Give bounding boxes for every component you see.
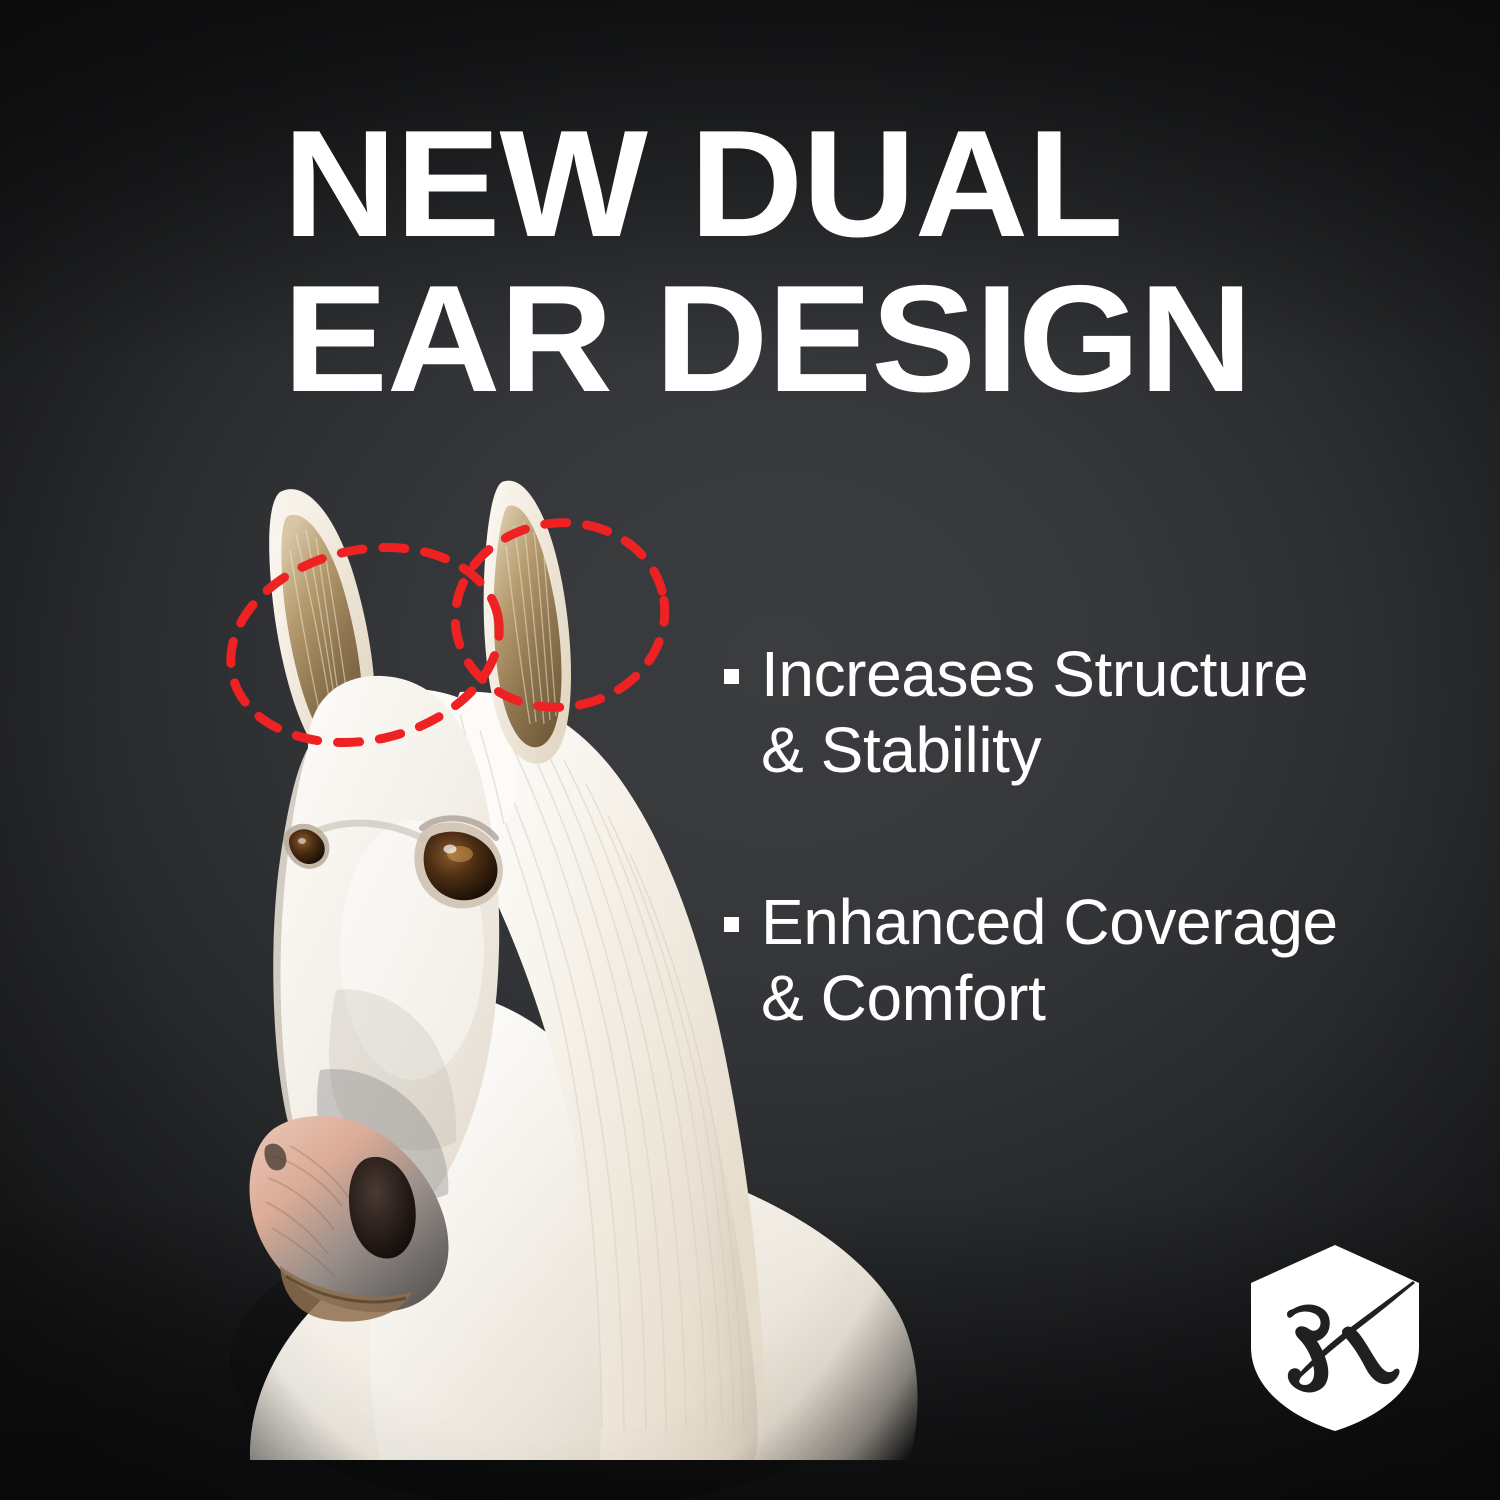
- promo-banner: NEW DUAL EAR DESIGN: [0, 0, 1500, 1500]
- feature-text: Increases Structure & Stability: [761, 636, 1308, 788]
- feature-text: Enhanced Coverage & Comfort: [761, 884, 1338, 1036]
- feature-line-2: & Comfort: [761, 960, 1338, 1036]
- feature-line-2: & Stability: [761, 712, 1308, 788]
- shield-badge-icon: [1247, 1243, 1423, 1433]
- list-item: Increases Structure & Stability: [724, 636, 1424, 788]
- square-bullet-icon: [724, 917, 739, 932]
- feature-line-1: Enhanced Coverage: [761, 884, 1338, 960]
- square-bullet-icon: [724, 669, 739, 684]
- list-item: Enhanced Coverage & Comfort: [724, 884, 1424, 1036]
- headline-line-2: EAR DESIGN: [283, 265, 1318, 414]
- feature-list: Increases Structure & Stability Enhanced…: [724, 636, 1424, 1037]
- feature-line-1: Increases Structure: [761, 636, 1308, 712]
- shield-shape: [1251, 1245, 1419, 1431]
- page-title: NEW DUAL EAR DESIGN: [283, 110, 1283, 414]
- headline-line-1: NEW DUAL: [283, 110, 1318, 259]
- brand-logo: [1247, 1243, 1423, 1433]
